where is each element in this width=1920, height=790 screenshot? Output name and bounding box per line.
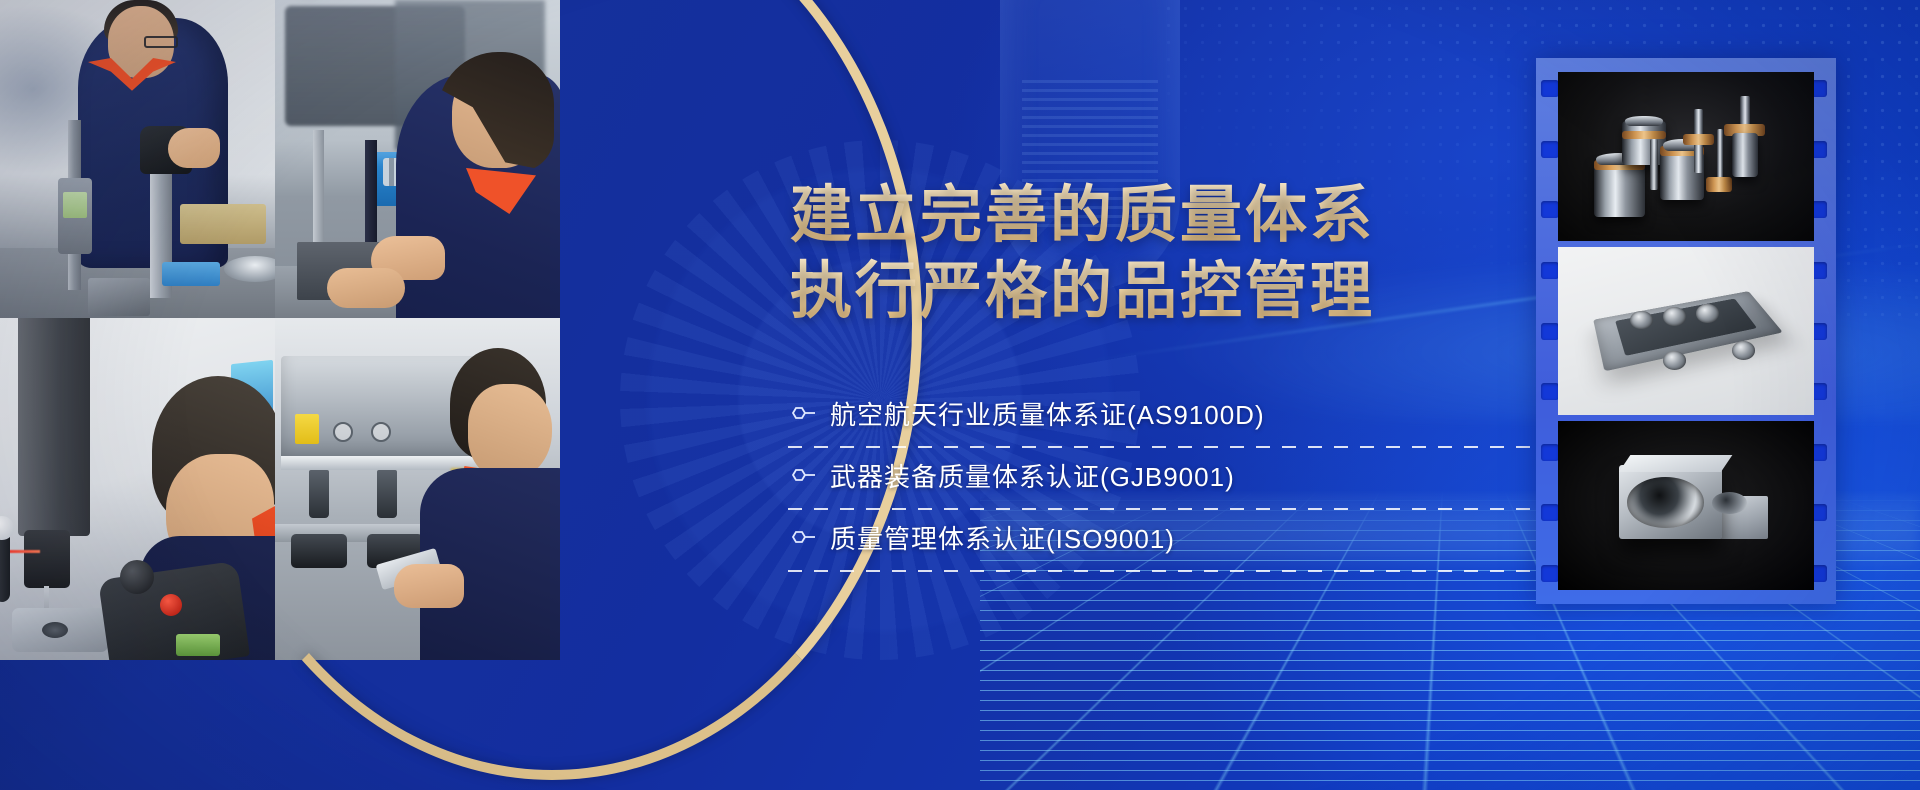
thin-pin-part: [1717, 129, 1723, 183]
certification-label: 武器装备质量体系认证(GJB9001): [830, 457, 1235, 494]
product-filmstrip: [1536, 58, 1836, 604]
joystick-knob: [120, 560, 154, 594]
certification-item[interactable]: 航空航天行业质量体系证(AS9100D): [786, 390, 1406, 452]
machine-dial-1: [333, 422, 353, 442]
housing-body: [1593, 291, 1783, 371]
product-bearing-block-photo[interactable]: [1558, 421, 1814, 590]
perforation: [1541, 504, 1559, 521]
warning-label: [295, 414, 319, 444]
height-gauge-display: [63, 192, 87, 218]
cylinder-part: [1622, 121, 1666, 165]
product-precision-cylinders-photo[interactable]: [1558, 72, 1814, 241]
emergency-stop-button: [160, 594, 182, 616]
stylus-ball-tip: [0, 516, 14, 540]
housing-bore: [1696, 304, 1719, 323]
cnc-operator-photo: [275, 318, 560, 660]
quality-system-banner: 建立完善的质量体系 执行严格的品控管理 航空航天行业质量体系证(AS9100D): [0, 0, 1920, 790]
housing-bore: [1630, 311, 1653, 330]
certification-item[interactable]: 质量管理体系认证(ISO9001): [786, 514, 1406, 576]
hexagon-pin-icon: [786, 466, 816, 484]
worker-glasses: [144, 36, 178, 48]
housing-bore: [1732, 341, 1755, 360]
cmm-probe-head: [24, 530, 70, 588]
stylus-holder: [0, 530, 10, 602]
machine-spindle-1: [309, 470, 329, 518]
perforation: [1541, 141, 1559, 158]
certification-list: 航空航天行业质量体系证(AS9100D) 武器装备质量体系认证(GJB9001): [786, 390, 1406, 576]
headline-block: 建立完善的质量体系 执行严格的品控管理: [790, 178, 1410, 330]
worker-hand: [168, 128, 220, 168]
perforation: [1541, 444, 1559, 461]
parts-tray: [180, 204, 266, 244]
machine-spindle-2: [377, 470, 397, 518]
copper-ring: [1622, 131, 1666, 139]
copper-flange: [1683, 134, 1714, 144]
perforation: [1541, 565, 1559, 582]
bench-vise: [88, 278, 150, 316]
housing-bore: [1663, 307, 1686, 326]
cmm-laser-line: [6, 550, 40, 553]
measured-part-bore: [42, 622, 68, 638]
machine-dial-2: [371, 422, 391, 442]
cylinder-cap: [1625, 116, 1663, 126]
cnc-operator-face: [468, 384, 552, 480]
gauge-post: [313, 130, 324, 250]
hexagon-pin-icon: [786, 528, 816, 546]
indicator-post: [365, 140, 377, 250]
product-machined-housing-photo[interactable]: [1558, 247, 1814, 416]
inspector-hand-left: [327, 268, 405, 308]
headline-line-1: 建立完善的质量体系: [790, 178, 1410, 254]
shaft-part: [1650, 139, 1658, 190]
certification-label: 质量管理体系认证(ISO9001): [830, 519, 1175, 556]
certification-label: 航空航天行业质量体系证(AS9100D): [830, 395, 1265, 432]
joystick-display: [176, 634, 220, 656]
housing-bore: [1663, 351, 1686, 370]
perforation: [1541, 80, 1559, 97]
cmm-column: [18, 318, 90, 536]
inspector-height-gauge-photo: [0, 0, 275, 318]
headline-line-2: 执行严格的品控管理: [790, 254, 1410, 330]
bearing-block-top-face: [1619, 455, 1733, 472]
perforation: [1541, 201, 1559, 218]
photo-collage: [0, 0, 560, 660]
filmstrip-frames: [1558, 72, 1814, 590]
cylinder-part: [1732, 133, 1758, 177]
blue-gauge-block: [162, 262, 220, 286]
machine-chuck-1: [291, 534, 347, 568]
perforation: [1541, 323, 1559, 340]
inspector-bench-measure-photo: [275, 0, 560, 318]
perforation: [1541, 383, 1559, 400]
certification-item[interactable]: 武器装备质量体系认证(GJB9001): [786, 452, 1406, 514]
perforation: [1541, 262, 1559, 279]
hexagon-pin-icon: [786, 404, 816, 422]
cmm-operator-photo: [0, 318, 275, 660]
bearing-bore: [1627, 477, 1704, 528]
copper-collar: [1706, 177, 1732, 192]
cnc-operator-hand: [394, 564, 464, 608]
